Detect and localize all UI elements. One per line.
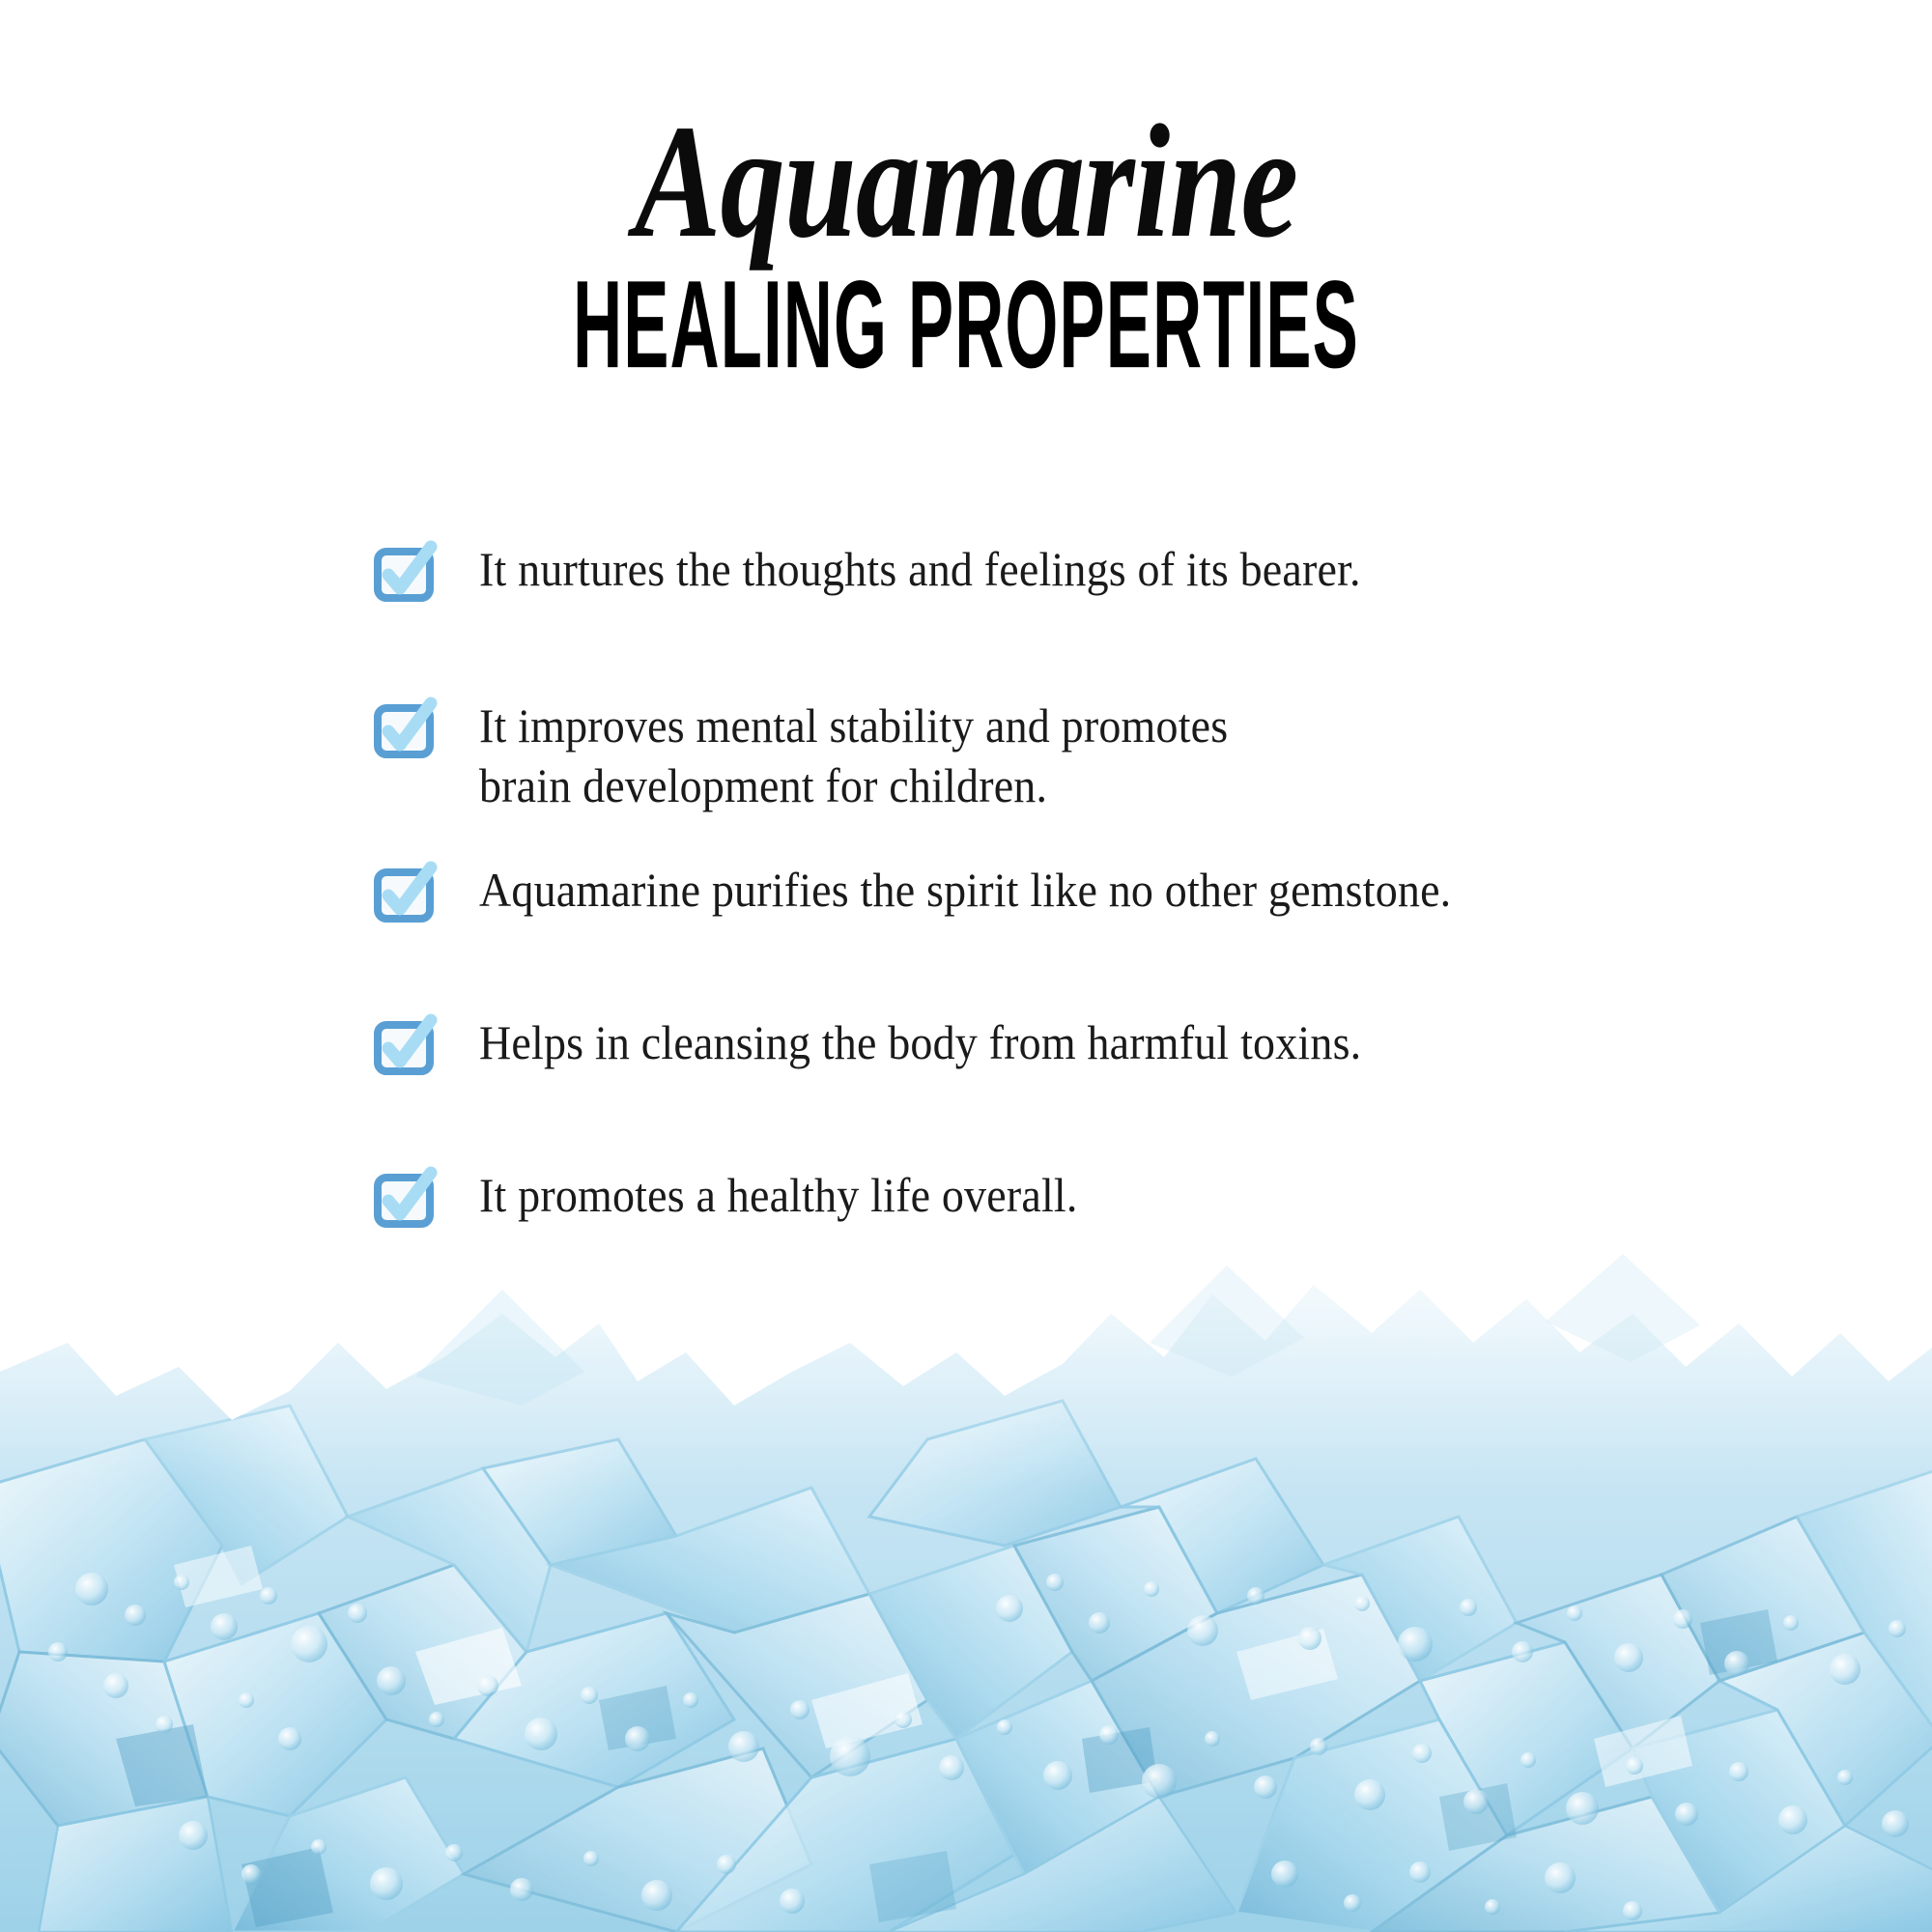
page-subtitle: HEALING PROPERTIES (415, 263, 1517, 387)
properties-list: It nurtures the thoughts and feelings of… (375, 537, 1843, 1231)
list-item-label: It nurtures the thoughts and feelings of… (479, 537, 1361, 599)
checkbox-checked-icon (375, 545, 435, 605)
list-item-label: Helps in cleansing the body from harmful… (479, 1010, 1361, 1072)
ice-cubes-photo (0, 1198, 1932, 1932)
list-item-label: Aquamarine purifies the spirit like no o… (479, 858, 1451, 920)
list-item: Helps in cleansing the body from harmful… (375, 1010, 1843, 1078)
list-item: Aquamarine purifies the spirit like no o… (375, 858, 1843, 925)
checkbox-checked-icon (375, 701, 435, 761)
list-item-label: It improves mental stability and promote… (479, 694, 1228, 815)
list-item: It improves mental stability and promote… (375, 694, 1843, 815)
checkbox-checked-icon (375, 1018, 435, 1078)
list-item: It nurtures the thoughts and feelings of… (375, 537, 1843, 605)
poster-canvas: Aquamarine HEALING PROPERTIES It nurture… (0, 0, 1932, 1932)
page-title: Aquamarine (193, 100, 1739, 263)
checkbox-checked-icon (375, 866, 435, 925)
